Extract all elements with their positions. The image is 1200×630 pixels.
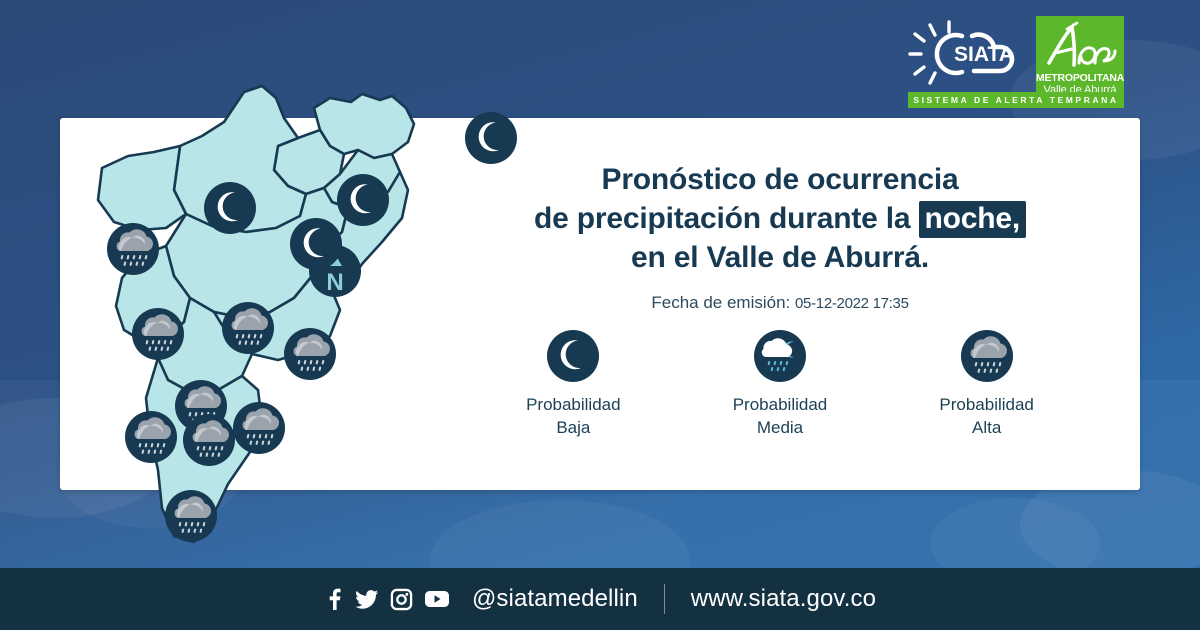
footer-divider — [664, 584, 665, 614]
facebook-icon[interactable] — [324, 587, 344, 611]
map-marker-moon[interactable] — [204, 182, 256, 234]
area-script-icon — [1041, 19, 1119, 73]
cloud-rain-icon — [961, 330, 1013, 382]
logo-group: SIATA METROPOLITANA Valle de Aburrá — [900, 16, 1124, 104]
legend-label-media: Probabilidad Media — [695, 394, 865, 440]
title-line-2: de precipitación durante la noche, — [470, 199, 1090, 238]
emission-value: 05-12-2022 17:35 — [795, 295, 909, 312]
area-metropolitana-logo: METROPOLITANA Valle de Aburrá — [1036, 16, 1124, 104]
legend-alta-line1: Probabilidad — [902, 394, 1072, 417]
cloud-moon-rain-icon — [754, 330, 806, 382]
social-icons — [324, 587, 450, 611]
legend-label-alta: Probabilidad Alta — [902, 394, 1072, 440]
footer-bar: @siatamedellin www.siata.gov.co — [0, 568, 1200, 630]
map-marker-cloud-rain[interactable] — [132, 308, 184, 360]
legend: Probabilidad Baja Proba — [470, 330, 1090, 440]
compass-label: N — [326, 269, 343, 296]
website-url[interactable]: www.siata.gov.co — [691, 585, 876, 613]
area-line1: METROPOLITANA — [1036, 73, 1124, 84]
emission-date: Fecha de emisión: 05-12-2022 17:35 — [470, 293, 1090, 313]
map-marker-cloud-rain[interactable] — [165, 490, 217, 542]
map-marker-cloud-rain[interactable] — [107, 223, 159, 275]
legend-label-baja: Probabilidad Baja — [488, 394, 658, 440]
siata-logo: SIATA — [900, 16, 1028, 92]
title-highlight-noche: noche, — [919, 201, 1026, 238]
title-line-1: Pronóstico de ocurrencia — [470, 160, 1090, 199]
instagram-icon[interactable] — [390, 588, 413, 611]
legend-media-line2: Media — [695, 417, 865, 440]
moon-icon — [547, 330, 599, 382]
map-marker-moon[interactable] — [465, 112, 517, 164]
map-marker-moon[interactable] — [290, 218, 342, 270]
siata-wordmark: SIATA — [954, 43, 1014, 66]
title-line-2-text: de precipitación durante la — [534, 202, 919, 235]
legend-alta-line2: Alta — [902, 417, 1072, 440]
emission-label: Fecha de emisión: — [651, 293, 790, 312]
valle-de-aburra-map: N — [62, 50, 422, 570]
infographic-root: SIATA METROPOLITANA Valle de Aburrá SIST… — [0, 0, 1200, 630]
municipality-northwest — [98, 146, 186, 230]
map-marker-cloud-rain[interactable] — [284, 328, 336, 380]
social-handle[interactable]: @siatamedellin — [472, 585, 638, 613]
map-marker-moon[interactable] — [337, 174, 389, 226]
map-marker-cloud-rain[interactable] — [125, 411, 177, 463]
legend-baja-line1: Probabilidad — [488, 394, 658, 417]
legend-item-media: Probabilidad Media — [695, 330, 865, 440]
legend-item-alta: Probabilidad Alta — [902, 330, 1072, 440]
map-marker-cloud-rain[interactable] — [222, 302, 274, 354]
map-marker-cloud-rain[interactable] — [183, 414, 235, 466]
tagline-bar: SISTEMA DE ALERTA TEMPRANA — [908, 92, 1124, 108]
headline-block: Pronóstico de ocurrencia de precipitació… — [470, 160, 1090, 313]
map-marker-cloud-rain[interactable] — [233, 402, 285, 454]
map-svg: N — [62, 50, 422, 570]
legend-item-baja: Probabilidad Baja — [488, 330, 658, 440]
page-title: Pronóstico de ocurrencia de precipitació… — [470, 160, 1090, 277]
legend-media-line1: Probabilidad — [695, 394, 865, 417]
twitter-icon[interactable] — [355, 587, 379, 611]
legend-baja-line2: Baja — [488, 417, 658, 440]
title-line-3: en el Valle de Aburrá. — [470, 238, 1090, 277]
youtube-icon[interactable] — [424, 589, 450, 609]
